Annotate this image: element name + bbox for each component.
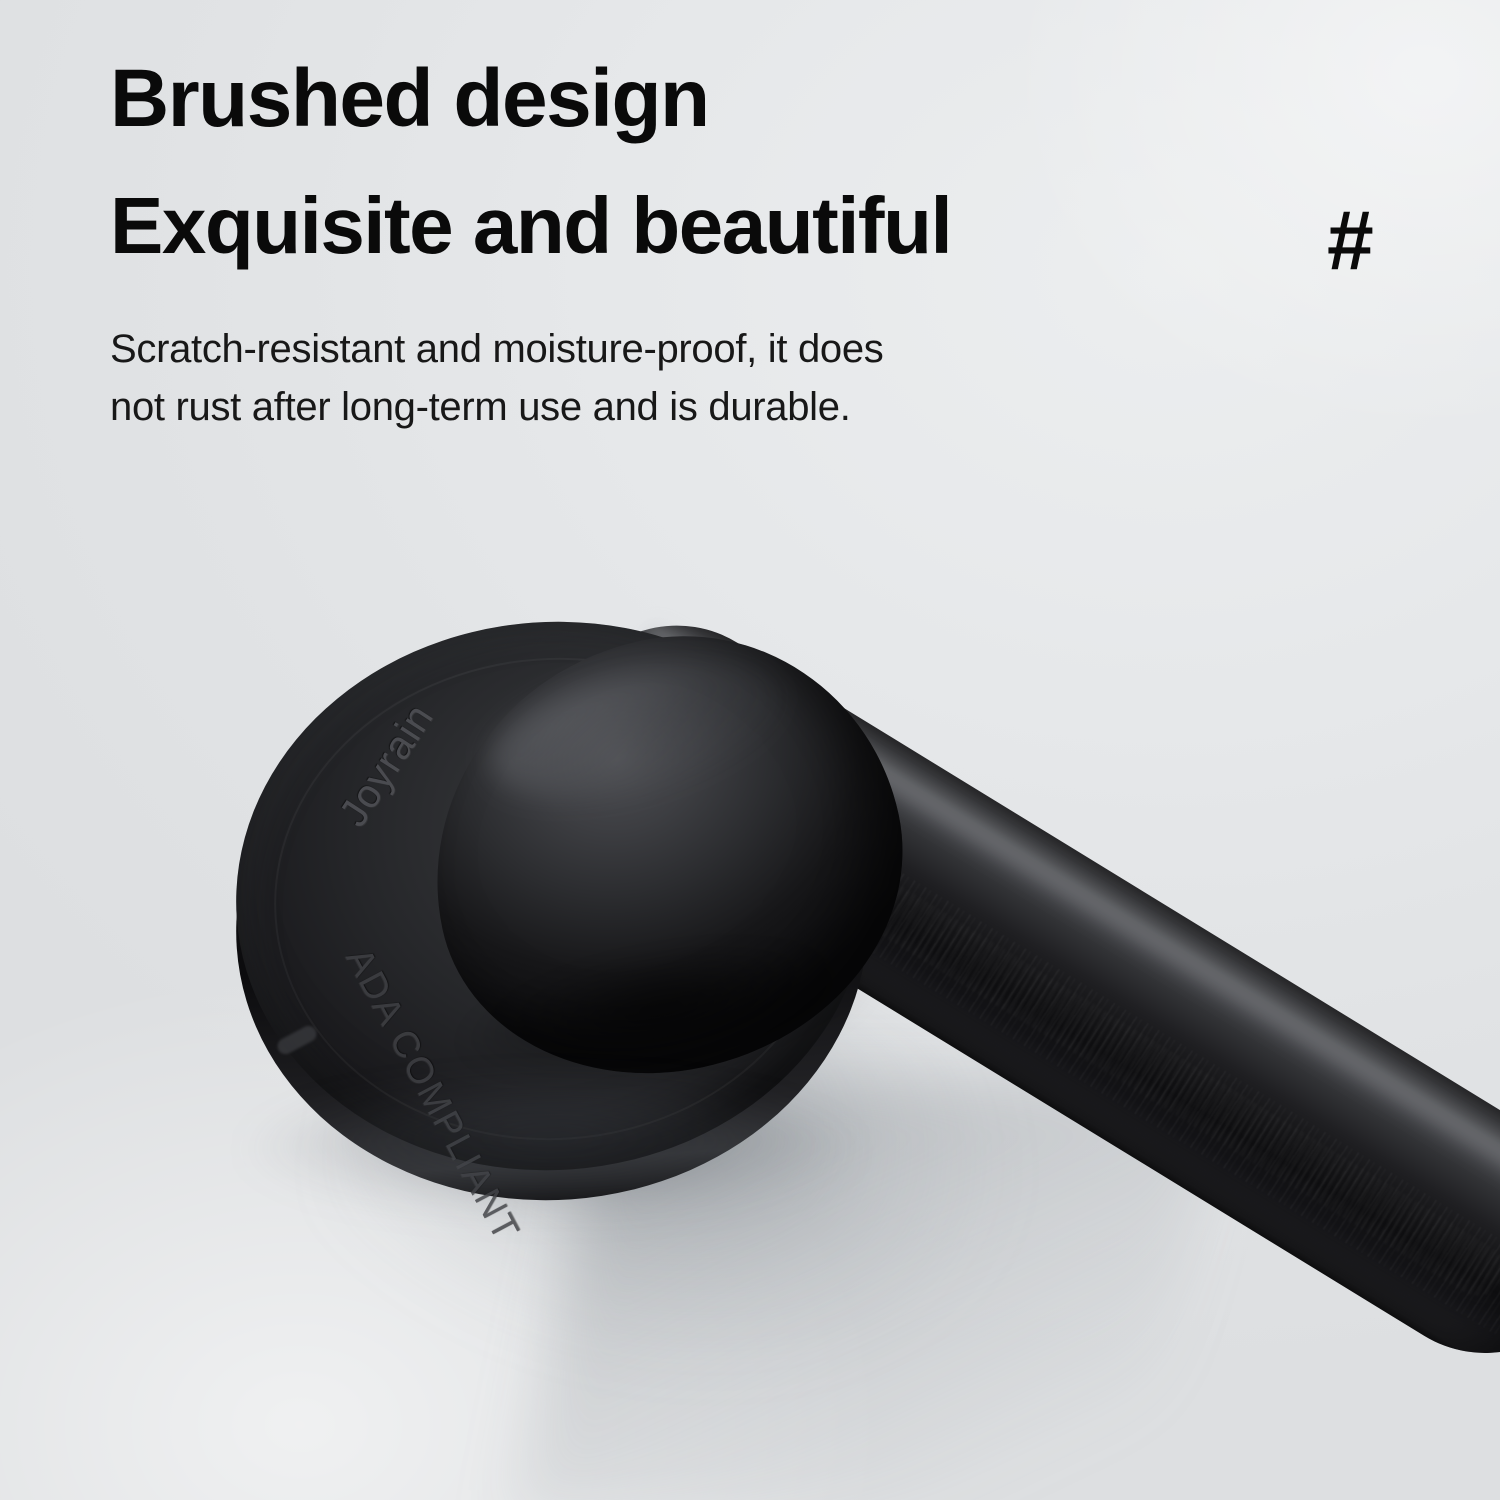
- description-line-1: Scratch-resistant and moisture-proof, it…: [110, 320, 1250, 378]
- flange-top-face: [218, 601, 887, 1192]
- flange-rim-notch: [275, 1023, 320, 1057]
- grab-bar-elbow-highlight: [476, 637, 796, 824]
- page-title: Brushed design: [110, 58, 1250, 140]
- flange-contact-shadow: [232, 1090, 872, 1250]
- wall-cast-shadow-secondary: [514, 1080, 1225, 1500]
- grab-bar-brushed-texture: [571, 697, 1500, 1354]
- flange-groove-ring: [258, 639, 850, 1159]
- product-feature-image: Joyrain ADA COMPLIANT Brushed design Exq…: [0, 0, 1500, 1500]
- wall-cast-shadow: [273, 883, 1166, 1500]
- description-text: Scratch-resistant and moisture-proof, it…: [110, 320, 1250, 436]
- grab-bar-cylinder: [517, 582, 1500, 1396]
- flange-edge-thickness: [218, 631, 887, 1222]
- page-subtitle: Exquisite and beautiful: [110, 186, 1250, 266]
- grab-bar-specular-highlight: [633, 611, 1500, 1244]
- grab-bar-elbow: [392, 596, 941, 1114]
- wall-flange: Joyrain ADA COMPLIANT: [228, 600, 878, 1220]
- marketing-copy-block: Brushed design Exquisite and beautiful S…: [110, 58, 1250, 436]
- description-line-2: not rust after long-term use and is dura…: [110, 378, 1250, 436]
- ada-compliant-engraving: ADA COMPLIANT: [337, 941, 527, 1249]
- grab-bar-elbow-crease-shadow: [441, 924, 885, 1117]
- grab-bar-tube: [482, 582, 1500, 1454]
- grab-bar-brushed-texture-fine: [650, 749, 1500, 1305]
- hash-icon: #: [1327, 198, 1374, 282]
- brand-engraving: Joyrain: [331, 696, 443, 835]
